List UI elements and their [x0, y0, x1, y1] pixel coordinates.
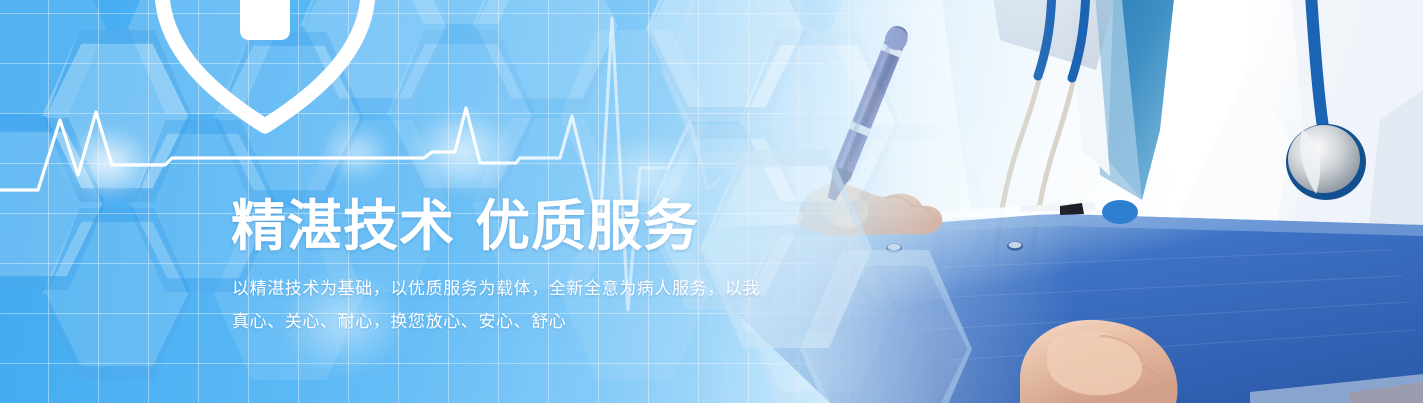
medical-cross-icon — [192, 0, 338, 40]
shield-icon — [152, 0, 378, 166]
medical-hero-banner: 精湛技术 优质服务 以精湛技术为基础，以优质服务为载体，全新全意为病人服务，以我… — [0, 0, 1423, 403]
page-title: 精湛技术 优质服务 — [231, 196, 699, 256]
subtitle-line-2: 真心、关心、耐心，换您放心、安心、舒心 — [232, 314, 566, 331]
subtitle-line-1: 以精湛技术为基础，以优质服务为载体，全新全意为病人服务，以我 — [232, 281, 760, 298]
doctor-photo — [690, 0, 1423, 403]
